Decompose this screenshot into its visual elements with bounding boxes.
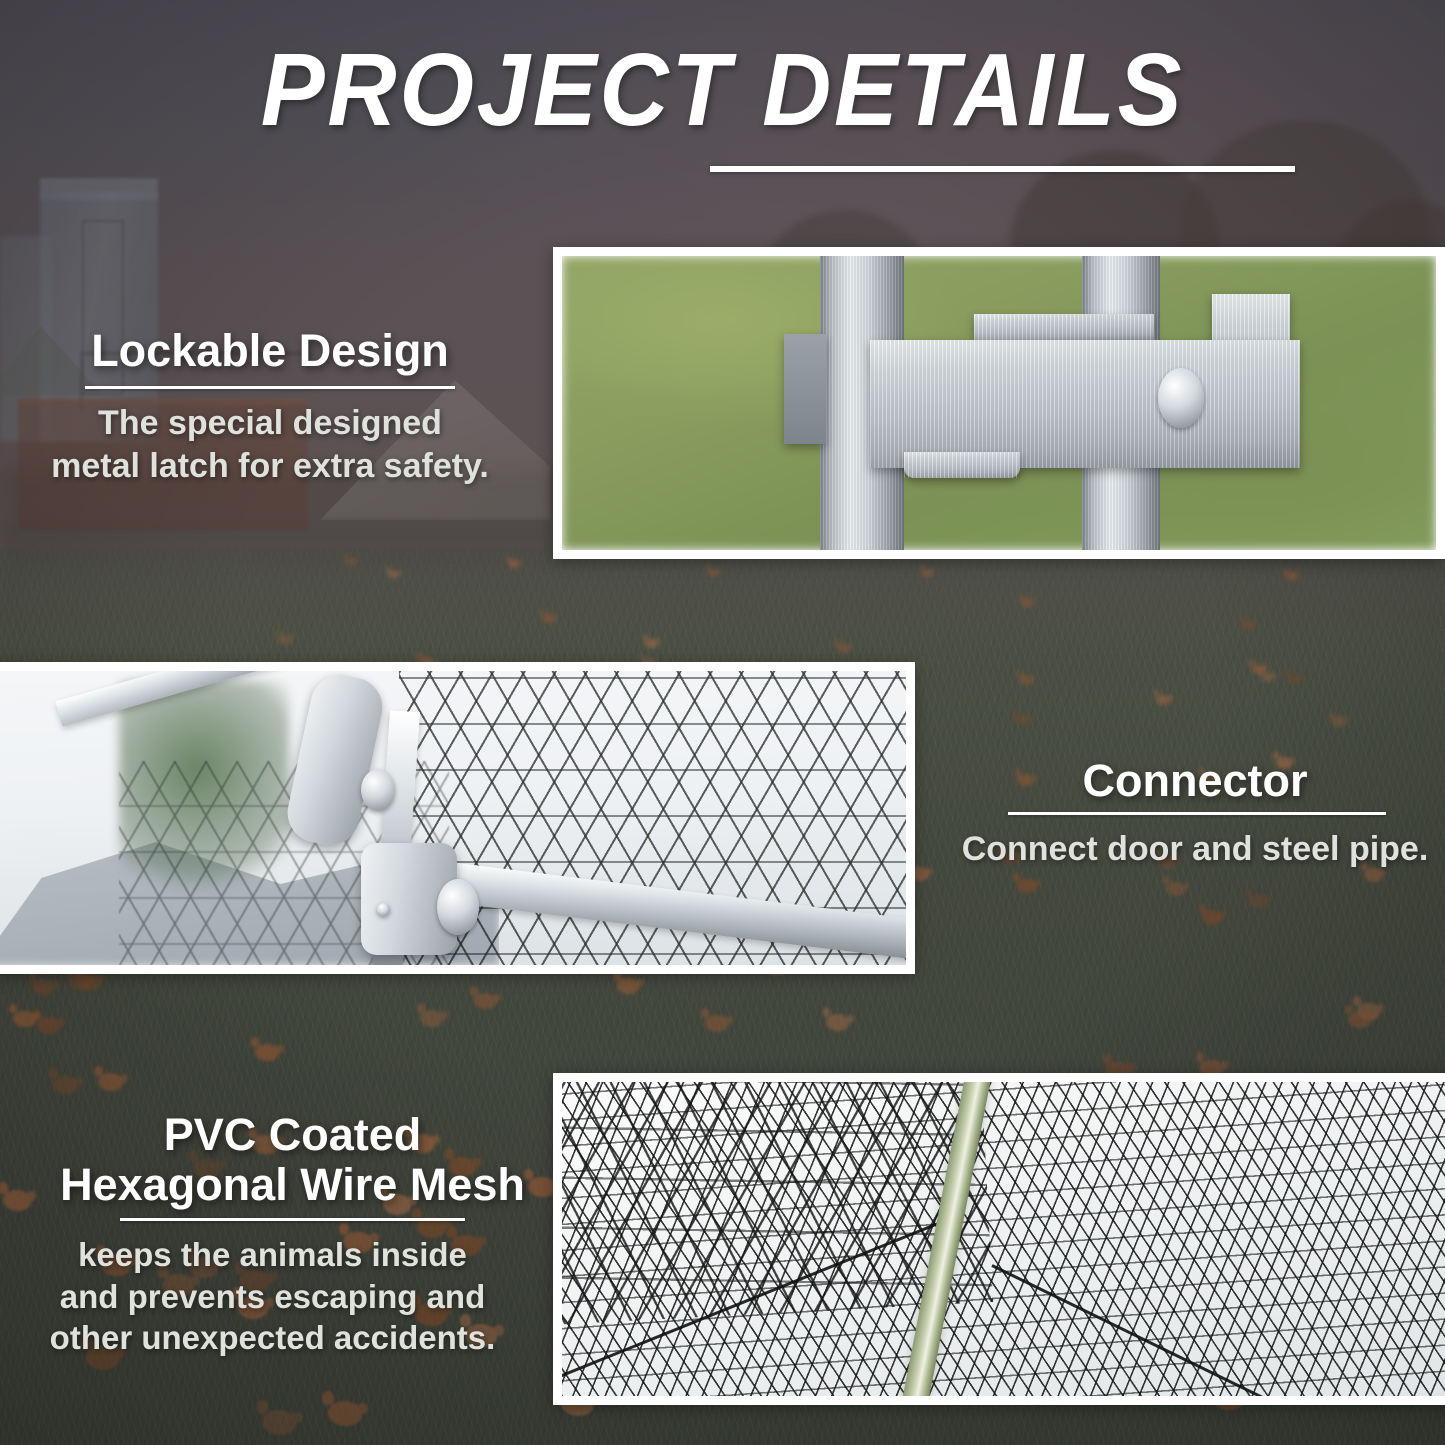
photo-panel-lockable-design (553, 247, 1445, 559)
feature-heading-wire-mesh: PVC Coated Hexagonal Wire Mesh (0, 1110, 585, 1209)
infographic-canvas: PROJECT DETAILS (0, 0, 1445, 1445)
photo-wire-mesh (562, 1082, 1445, 1396)
photo-connector (0, 671, 906, 965)
feature-body-line: keeps the animals inside (0, 1234, 545, 1276)
feature-rule-wire-mesh (120, 1218, 465, 1221)
feature-rule-connector (1008, 812, 1386, 815)
feature-body-lockable-design: The special designed metal latch for ext… (0, 402, 540, 488)
feature-body-line: Connect door and steel pipe. (905, 828, 1445, 871)
feature-heading-lockable-design: Lockable Design (0, 326, 540, 376)
feature-body-wire-mesh: keeps the animals inside and prevents es… (0, 1234, 545, 1359)
feature-rule-lockable-design (85, 386, 455, 389)
feature-body-line: and prevents escaping and (0, 1276, 545, 1318)
page-title-rule (710, 166, 1295, 172)
feature-heading-line: Hexagonal Wire Mesh (0, 1160, 585, 1210)
latch-main-bar (870, 340, 1300, 468)
feature-body-line: The special designed (0, 402, 540, 445)
latch-keeper-tab (784, 334, 826, 444)
feature-heading-line: PVC Coated (0, 1110, 585, 1160)
latch-tongue (904, 452, 1020, 478)
connector-bolt-hole (377, 903, 390, 916)
latch-rivet (1158, 368, 1204, 428)
photo-lockable-design (562, 256, 1436, 550)
feature-heading-connector: Connector (905, 756, 1445, 806)
feature-body-line: metal latch for extra safety. (0, 445, 540, 488)
feature-body-line: other unexpected accidents. (0, 1317, 545, 1359)
page-title: PROJECT DETAILS (51, 36, 1395, 144)
connector-rivet-upper (361, 769, 395, 811)
photo-panel-wire-mesh (553, 1073, 1445, 1405)
feature-body-connector: Connect door and steel pipe. (905, 828, 1445, 871)
latch-upper-bar (974, 314, 1154, 340)
photo-panel-connector (0, 662, 915, 974)
connector-rivet-lower (437, 879, 479, 935)
